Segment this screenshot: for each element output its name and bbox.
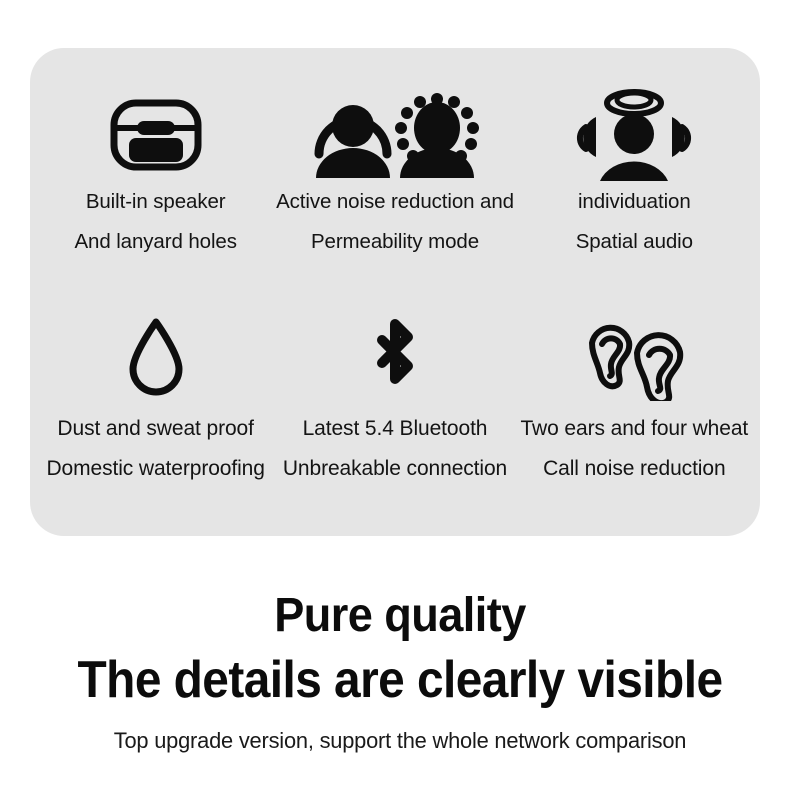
feature-cell-built-in-speaker: Built-in speaker And lanyard holes [36,66,275,296]
feature-panel: Built-in speaker And lanyard holes [30,48,760,536]
feature-grid: Built-in speaker And lanyard holes [30,48,760,536]
feature-text-spatial-audio: individuation Spatial audio [576,192,693,252]
feature-text-built-in-speaker: Built-in speaker And lanyard holes [74,192,236,252]
feature-text-bluetooth: Latest 5.4 Bluetooth Unbreakable connect… [283,418,507,479]
feature-cell-two-ears: Two ears and four wheat Call noise reduc… [515,296,754,526]
feature-line-1: Active noise reduction and [276,192,514,213]
feature-line-1: Latest 5.4 Bluetooth [283,418,507,439]
headline-subtitle: Top upgrade version, support the whole n… [12,728,788,754]
spatial-audio-icon [568,92,700,178]
feature-text-waterproof: Dust and sweat proof Domestic waterproof… [46,418,264,479]
earbud-case-icon [107,92,205,178]
feature-cell-bluetooth: Latest 5.4 Bluetooth Unbreakable connect… [275,296,514,526]
two-ears-icon [578,318,690,398]
feature-text-two-ears: Two ears and four wheat Call noise reduc… [520,418,748,479]
headline-secondary: The details are clearly visible [32,654,768,706]
headline-primary: Pure quality [24,592,776,640]
feature-cell-active-noise-reduction: Active noise reduction and Permeability … [275,66,514,296]
feature-cell-waterproof: Dust and sweat proof Domestic waterproof… [36,296,275,526]
feature-line-1: Dust and sweat proof [46,418,264,439]
feature-line-2: Domestic waterproofing [46,458,264,479]
bluetooth-icon [360,318,430,398]
feature-line-1: Built-in speaker [74,192,236,213]
feature-line-1: Two ears and four wheat [520,418,748,439]
headline-block: Pure quality The details are clearly vis… [0,592,800,754]
feature-cell-spatial-audio: individuation Spatial audio [515,66,754,296]
feature-line-1: individuation [576,192,693,213]
water-droplet-icon [123,318,189,398]
active-noise-reduction-icon [295,92,495,178]
feature-line-2: And lanyard holes [74,232,236,253]
feature-line-2: Permeability mode [276,232,514,253]
feature-line-2: Unbreakable connection [283,458,507,479]
feature-text-active-noise-reduction: Active noise reduction and Permeability … [276,192,514,252]
feature-line-2: Call noise reduction [520,458,748,479]
feature-line-2: Spatial audio [576,232,693,253]
